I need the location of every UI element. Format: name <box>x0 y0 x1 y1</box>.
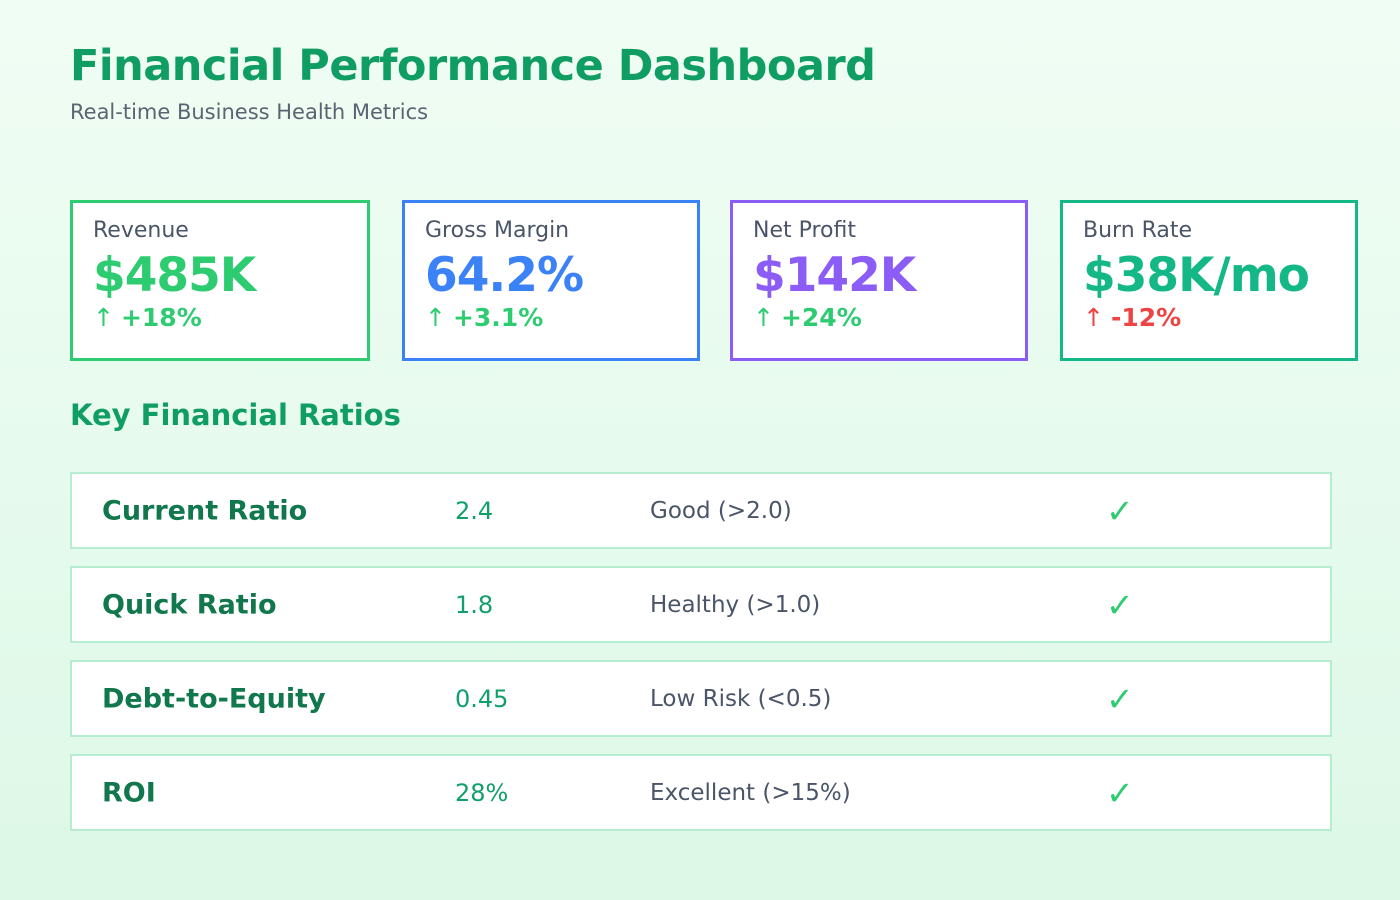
ratios-table: Current Ratio 2.4 Good (>2.0) ✓ Quick Ra… <box>70 472 1332 848</box>
kpi-delta-value: +3.1% <box>453 303 543 332</box>
kpi-card-row: Revenue $485K ↑+18% Gross Margin 64.2% ↑… <box>70 200 1360 361</box>
table-row[interactable]: ROI 28% Excellent (>15%) ✓ <box>70 754 1332 831</box>
table-row[interactable]: Quick Ratio 1.8 Healthy (>1.0) ✓ <box>70 566 1332 643</box>
table-row[interactable]: Debt-to-Equity 0.45 Low Risk (<0.5) ✓ <box>70 660 1332 737</box>
kpi-card-net-profit[interactable]: Net Profit $142K ↑+24% <box>730 200 1028 361</box>
kpi-delta-value: +24% <box>781 303 862 332</box>
kpi-label: Burn Rate <box>1083 219 1355 243</box>
ratio-status: Healthy (>1.0) <box>650 592 820 618</box>
ratio-status: Excellent (>15%) <box>650 780 851 806</box>
ratio-status: Good (>2.0) <box>650 498 792 524</box>
kpi-delta: ↑-12% <box>1083 304 1355 332</box>
check-icon: ✓ <box>1106 682 1134 715</box>
kpi-delta-value: +18% <box>121 303 202 332</box>
kpi-value: $142K <box>753 251 1025 300</box>
kpi-label: Gross Margin <box>425 219 697 243</box>
dashboard-header: Financial Performance Dashboard Real-tim… <box>70 44 875 124</box>
check-icon: ✓ <box>1106 588 1134 621</box>
page-title: Financial Performance Dashboard <box>70 44 875 89</box>
ratio-value: 0.45 <box>455 685 508 713</box>
ratio-value: 1.8 <box>455 591 493 619</box>
page-subtitle: Real-time Business Health Metrics <box>70 101 875 124</box>
ratio-name: Current Ratio <box>102 495 307 526</box>
check-icon: ✓ <box>1106 494 1134 527</box>
trend-up-icon: ↑ <box>753 303 774 332</box>
section-title-key-financial-ratios: Key Financial Ratios <box>70 400 401 432</box>
trend-up-icon: ↑ <box>93 303 114 332</box>
kpi-value: $485K <box>93 251 367 300</box>
check-icon: ✓ <box>1106 776 1134 809</box>
kpi-delta: ↑+18% <box>93 304 367 332</box>
trend-up-icon: ↑ <box>1083 303 1104 332</box>
ratio-value: 2.4 <box>455 497 493 525</box>
ratio-name: Debt-to-Equity <box>102 683 326 714</box>
ratio-name: ROI <box>102 777 156 808</box>
table-row[interactable]: Current Ratio 2.4 Good (>2.0) ✓ <box>70 472 1332 549</box>
kpi-delta: ↑+24% <box>753 304 1025 332</box>
kpi-card-gross-margin[interactable]: Gross Margin 64.2% ↑+3.1% <box>402 200 700 361</box>
kpi-card-revenue[interactable]: Revenue $485K ↑+18% <box>70 200 370 361</box>
kpi-delta: ↑+3.1% <box>425 304 697 332</box>
kpi-card-burn-rate[interactable]: Burn Rate $38K/mo ↑-12% <box>1060 200 1358 361</box>
ratio-name: Quick Ratio <box>102 589 277 620</box>
ratio-status: Low Risk (<0.5) <box>650 686 831 712</box>
dashboard-page: Financial Performance Dashboard Real-tim… <box>0 0 1400 900</box>
kpi-value: 64.2% <box>425 251 697 300</box>
kpi-value: $38K/mo <box>1083 251 1355 300</box>
kpi-delta-value: -12% <box>1111 303 1181 332</box>
kpi-label: Net Profit <box>753 219 1025 243</box>
ratio-value: 28% <box>455 779 508 807</box>
trend-up-icon: ↑ <box>425 303 446 332</box>
kpi-label: Revenue <box>93 219 367 243</box>
